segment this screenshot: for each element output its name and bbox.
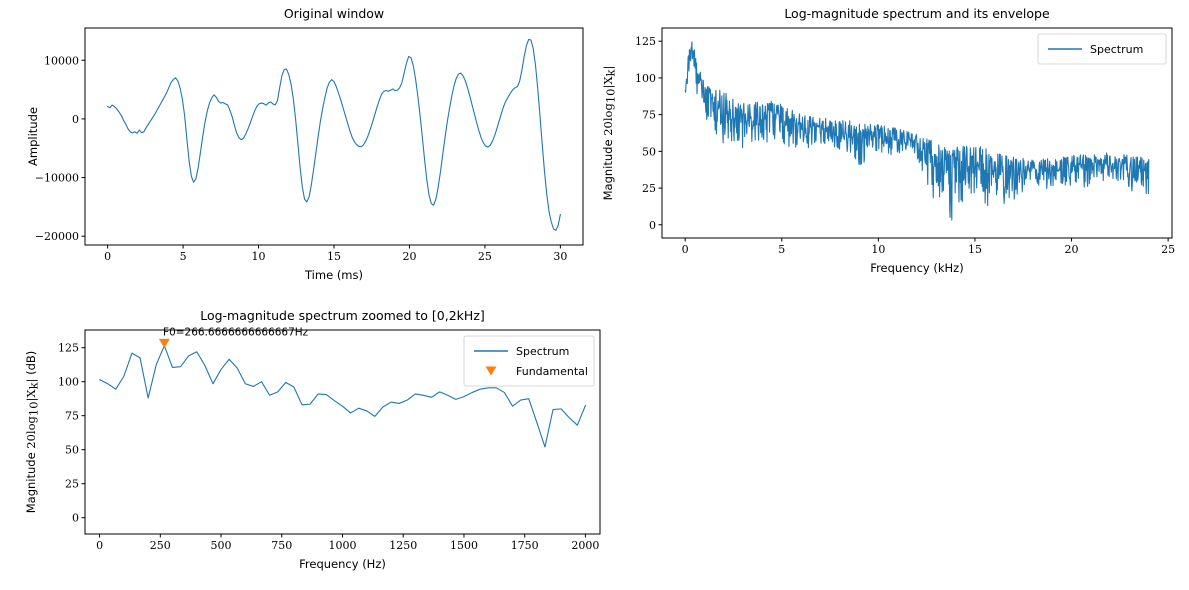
- x-axis-label: Time (ms): [304, 268, 363, 282]
- x-tick-label: 250: [150, 539, 171, 552]
- y-tick-label: 125: [635, 35, 656, 48]
- y-tick-label: 75: [642, 109, 656, 122]
- x-tick-label: 15: [968, 243, 982, 256]
- x-tick-label: 20: [402, 250, 416, 263]
- y-tick-label: 100: [635, 72, 656, 85]
- y-tick-label: 25: [642, 182, 656, 195]
- x-tick-label: 500: [211, 539, 232, 552]
- y-tick-label: 100: [58, 376, 79, 389]
- y-tick-label: 50: [65, 444, 79, 457]
- axes-frame: [662, 28, 1172, 238]
- axes-frame: [85, 330, 600, 534]
- legend-label: Spectrum: [516, 345, 569, 358]
- x-tick-label: 10: [252, 250, 266, 263]
- x-axis-label: Frequency (Hz): [299, 557, 386, 571]
- matplotlib-figure: Original window051015202530−20000−100000…: [0, 0, 1189, 590]
- y-tick-label: 0: [649, 219, 656, 232]
- x-tick-label: 25: [478, 250, 492, 263]
- y-tick-label: 125: [58, 342, 79, 355]
- x-tick-label: 1250: [389, 539, 417, 552]
- y-tick-label: 50: [642, 145, 656, 158]
- y-tick-label: 25: [65, 478, 79, 491]
- x-tick-label: 2000: [571, 539, 599, 552]
- subplot-title: Log-magnitude spectrum zoomed to [0,2kHz…: [200, 308, 485, 323]
- plot-area: [685, 42, 1149, 220]
- y-tick-label: −10000: [35, 172, 79, 185]
- x-tick-label: 15: [327, 250, 341, 263]
- x-tick-label: 25: [1161, 243, 1175, 256]
- legend-marker-fundamental: [486, 367, 497, 376]
- axes-frame: [85, 28, 583, 245]
- x-tick-label: 1000: [329, 539, 357, 552]
- y-tick-label: 75: [65, 410, 79, 423]
- y-axis-label: Magnitude 20log10|Xk|: [601, 66, 618, 201]
- subplot-log-magnitude-full: Log-magnitude spectrum and its envelope0…: [0, 0, 1189, 590]
- subplot-title: Log-magnitude spectrum and its envelope: [784, 6, 1050, 21]
- f0-annotation: F0=266.6666666666667Hz: [163, 326, 309, 338]
- x-tick-label: 30: [553, 250, 567, 263]
- legend: Spectrum: [1038, 34, 1166, 64]
- x-tick-label: 5: [778, 243, 785, 256]
- subplot-log-magnitude-zoom: Log-magnitude spectrum zoomed to [0,2kHz…: [0, 0, 1189, 590]
- plot-area: [100, 339, 586, 447]
- fundamental-marker: [159, 339, 170, 348]
- y-tick-label: 0: [72, 113, 79, 126]
- y-tick-label: 0: [72, 512, 79, 525]
- legend-label: Spectrum: [1090, 43, 1143, 56]
- legend-box: [1038, 34, 1166, 64]
- plot-area: [108, 39, 561, 230]
- x-tick-label: 1500: [450, 539, 478, 552]
- legend: SpectrumFundamental: [464, 336, 594, 386]
- y-axis-label: Amplitude: [26, 107, 40, 166]
- y-axis-label: Magnitude 20log10|Xk| (dB): [24, 351, 41, 514]
- x-tick-label: 750: [271, 539, 292, 552]
- subplot-title: Original window: [284, 6, 384, 21]
- y-tick-label: −20000: [35, 230, 79, 243]
- x-axis-label: Frequency (kHz): [870, 261, 963, 275]
- data-line-spectrum: [100, 346, 586, 447]
- x-tick-label: 20: [1065, 243, 1079, 256]
- x-tick-label: 0: [682, 243, 689, 256]
- x-tick-label: 10: [871, 243, 885, 256]
- x-tick-label: 0: [96, 539, 103, 552]
- data-line-waveform: [108, 39, 561, 230]
- data-line-spectrum: [685, 42, 1149, 220]
- legend-box: [464, 336, 594, 386]
- subplot-original-window: Original window051015202530−20000−100000…: [0, 0, 1189, 590]
- y-tick-label: 10000: [44, 54, 79, 67]
- x-tick-label: 1750: [511, 539, 539, 552]
- x-tick-label: 0: [104, 250, 111, 263]
- x-tick-label: 5: [180, 250, 187, 263]
- legend-label: Fundamental: [516, 365, 588, 378]
